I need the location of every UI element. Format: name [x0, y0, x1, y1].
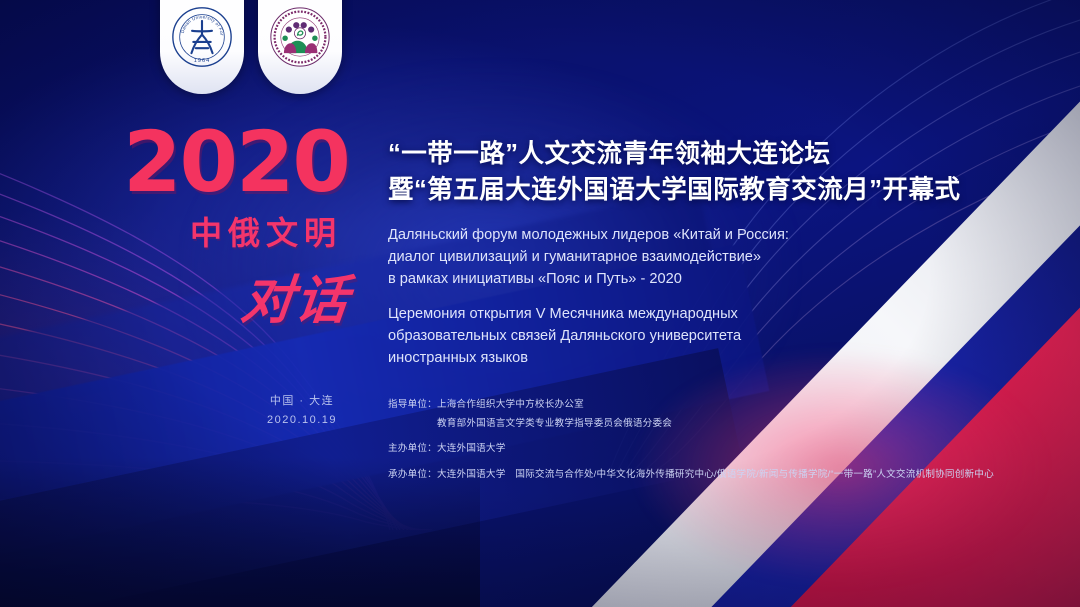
place-text: 中国 · 大连 — [232, 392, 372, 411]
main-text-column: “一带一路”人文交流青年领袖大连论坛 暨“第五届大连外国语大学国际教育交流月”开… — [388, 136, 1028, 370]
russian-line-6: иностранных языков — [388, 348, 1028, 370]
title-line-2: 暨“第五届大连外国语大学国际教育交流月”开幕式 — [388, 172, 1028, 208]
title-line-1: “一带一路”人文交流青年领袖大连论坛 — [388, 136, 1028, 172]
credits-host-label: 主办单位： — [388, 440, 437, 459]
logo-banner-dufl: Dalian University of Foreign Langu 1964 — [160, 0, 244, 94]
russian-subtitle-block-2: Церемония открытия V Месячника междунаро… — [388, 304, 1028, 370]
russian-line-4: Церемония открытия V Месячника междунаро… — [388, 304, 1028, 326]
subtitle-china-russia-civilizations: 中俄文明 — [96, 208, 376, 254]
credits-host-row: 主办单位： 大连外国语大学 — [388, 440, 994, 459]
credits-guidance-row-1: 指导单位： 上海合作组织大学中方校长办公室 — [388, 396, 994, 415]
subtitle-dialogue: 对话 — [92, 258, 380, 333]
credits-organizer: 承办单位： 大连外国语大学 国际交流与合作处/中华文化海外传播研究中心/俄语学院… — [388, 466, 994, 485]
russian-line-3: в рамках инициативы «Пояс и Путь» - 2020 — [388, 269, 1028, 291]
credits-organizer-value: 大连外国语大学 国际交流与合作处/中华文化海外传播研究中心/俄语学院/新闻与传播… — [437, 466, 994, 485]
dalian-university-of-foreign-languages-seal-icon: Dalian University of Foreign Langu 1964 — [171, 6, 233, 68]
credits-organizer-row: 承办单位： 大连外国语大学 国际交流与合作处/中华文化海外传播研究中心/俄语学院… — [388, 466, 994, 485]
credits-host: 主办单位： 大连外国语大学 — [388, 440, 994, 459]
credits-guidance-value-2: 教育部外国语言文学类专业教学指导委员会俄语分委会 — [437, 415, 672, 434]
place-and-date: 中国 · 大连 2020.10.19 — [232, 392, 372, 431]
credits-guidance-label: 指导单位： — [388, 396, 437, 415]
belt-and-road-youth-forum-emblem-icon — [269, 6, 331, 68]
credits-guidance: 指导单位： 上海合作组织大学中方校长办公室 教育部外国语言文学类专业教学指导委员… — [388, 396, 994, 433]
credits-block: 指导单位： 上海合作组织大学中方校长办公室 教育部外国语言文学类专业教学指导委员… — [388, 396, 994, 485]
year-headline-block: 2020 中俄文明 对话 — [96, 126, 376, 333]
poster-canvas: Dalian University of Foreign Langu 1964 — [0, 0, 1080, 607]
credits-guidance-row-2: 教育部外国语言文学类专业教学指导委员会俄语分委会 — [388, 415, 994, 434]
russian-line-5: образовательных связей Даляньского униве… — [388, 326, 1028, 348]
logo-banner-forum — [258, 0, 342, 94]
svg-text:1964: 1964 — [194, 58, 210, 64]
russian-line-2: диалог цивилизаций и гуманитарное взаимо… — [388, 247, 1028, 269]
year-2020: 2020 — [96, 126, 376, 198]
credits-guidance-value-1: 上海合作组织大学中方校长办公室 — [437, 396, 584, 415]
title-block: “一带一路”人文交流青年领袖大连论坛 暨“第五届大连外国语大学国际教育交流月”开… — [388, 136, 1028, 208]
russian-line-1: Даляньский форум молодежных лидеров «Кит… — [388, 225, 1028, 247]
credits-organizer-label: 承办单位： — [388, 466, 437, 485]
credits-host-value: 大连外国语大学 — [437, 440, 506, 459]
date-text: 2020.10.19 — [232, 411, 372, 430]
logo-banner-group: Dalian University of Foreign Langu 1964 — [160, 0, 342, 94]
russian-subtitle-block-1: Даляньский форум молодежных лидеров «Кит… — [388, 225, 1028, 291]
